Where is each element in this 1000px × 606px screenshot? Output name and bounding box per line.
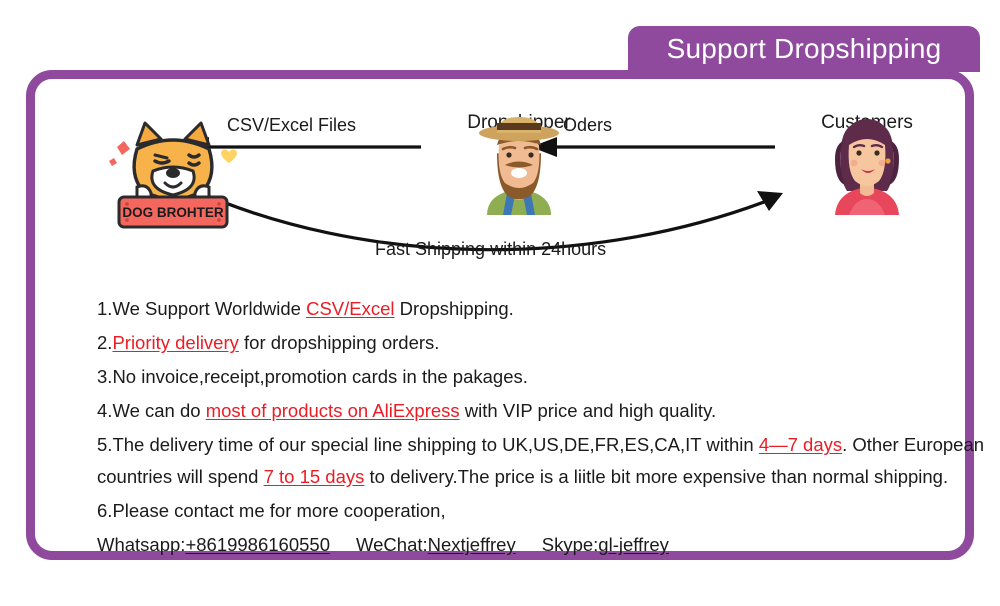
term-5-highlight-delivery-days: 4—7 days <box>759 434 842 455</box>
term-4-highlight: most of products on AliExpress <box>206 400 460 421</box>
term-3-number: 3. <box>97 366 112 387</box>
term-line-1: 1.We Support Worldwide CSV/Excel Dropshi… <box>97 293 997 325</box>
contact-row: Whatsapp:+8619986160550WeChat:Nextjeffre… <box>97 529 997 561</box>
bearded-man-straw-hat-icon <box>439 111 599 215</box>
term-5-number: 5. <box>97 434 112 455</box>
term-3-text-a: No invoice,receipt,promotion cards in th… <box>112 366 527 387</box>
shiba-dog-with-sign-icon: DOG BROHTER <box>93 109 253 229</box>
whatsapp-label: Whatsapp: <box>97 534 185 555</box>
content-card: CSV/Excel Files Oders Fast Shipping with… <box>26 70 974 560</box>
term-4-text-b: with VIP price and high quality. <box>460 400 716 421</box>
wechat-label: WeChat: <box>356 534 428 555</box>
term-4-number: 4. <box>97 400 112 421</box>
dropshipping-terms-list: 1.We Support Worldwide CSV/Excel Dropshi… <box>97 293 997 563</box>
term-1-text-a: We Support Worldwide <box>112 298 306 319</box>
node-dropshipper: Dropshipper <box>439 111 599 134</box>
term-5-text-c: to delivery.The price is a liitle bit mo… <box>364 466 948 487</box>
promo-banner-image: Support Dropshipping <box>0 0 1000 606</box>
term-line-5: 5.The delivery time of our special line … <box>97 429 997 492</box>
term-1-text-b: Dropshipping. <box>395 298 514 319</box>
woman-customer-icon <box>787 111 947 215</box>
term-2-number: 2. <box>97 332 112 353</box>
term-6-text-a: Please contact me for more cooperation, <box>112 500 445 521</box>
node-customers: Customers <box>787 111 947 134</box>
whatsapp-value[interactable]: +8619986160550 <box>185 534 330 555</box>
term-2-highlight: Priority delivery <box>112 332 238 353</box>
banner-title: Support Dropshipping <box>667 33 942 65</box>
wechat-value[interactable]: Nextjeffrey <box>428 534 516 555</box>
term-1-highlight: CSV/Excel <box>306 298 394 319</box>
dog-sign-text: DOG BROHTER <box>122 205 224 220</box>
term-4-text-a: We can do <box>112 400 205 421</box>
term-line-4: 4.We can do most of products on AliExpre… <box>97 395 997 427</box>
term-line-2: 2.Priority delivery for dropshipping ord… <box>97 327 997 359</box>
term-2-text-b: for dropshipping orders. <box>239 332 440 353</box>
skype-label: Skype: <box>542 534 599 555</box>
term-line-6: 6.Please contact me for more cooperation… <box>97 495 997 527</box>
term-1-number: 1. <box>97 298 112 319</box>
term-5-highlight-europe-days: 7 to 15 days <box>264 466 365 487</box>
support-dropshipping-banner: Support Dropshipping <box>628 26 980 72</box>
term-5-text-a: The delivery time of our special line sh… <box>112 434 758 455</box>
skype-value[interactable]: gl-jeffrey <box>598 534 669 555</box>
dropshipping-flow-diagram: CSV/Excel Files Oders Fast Shipping with… <box>35 79 965 294</box>
term-6-number: 6. <box>97 500 112 521</box>
edge-label-fast-shipping: Fast Shipping within 24hours <box>375 239 606 260</box>
term-line-3: 3.No invoice,receipt,promotion cards in … <box>97 361 997 393</box>
